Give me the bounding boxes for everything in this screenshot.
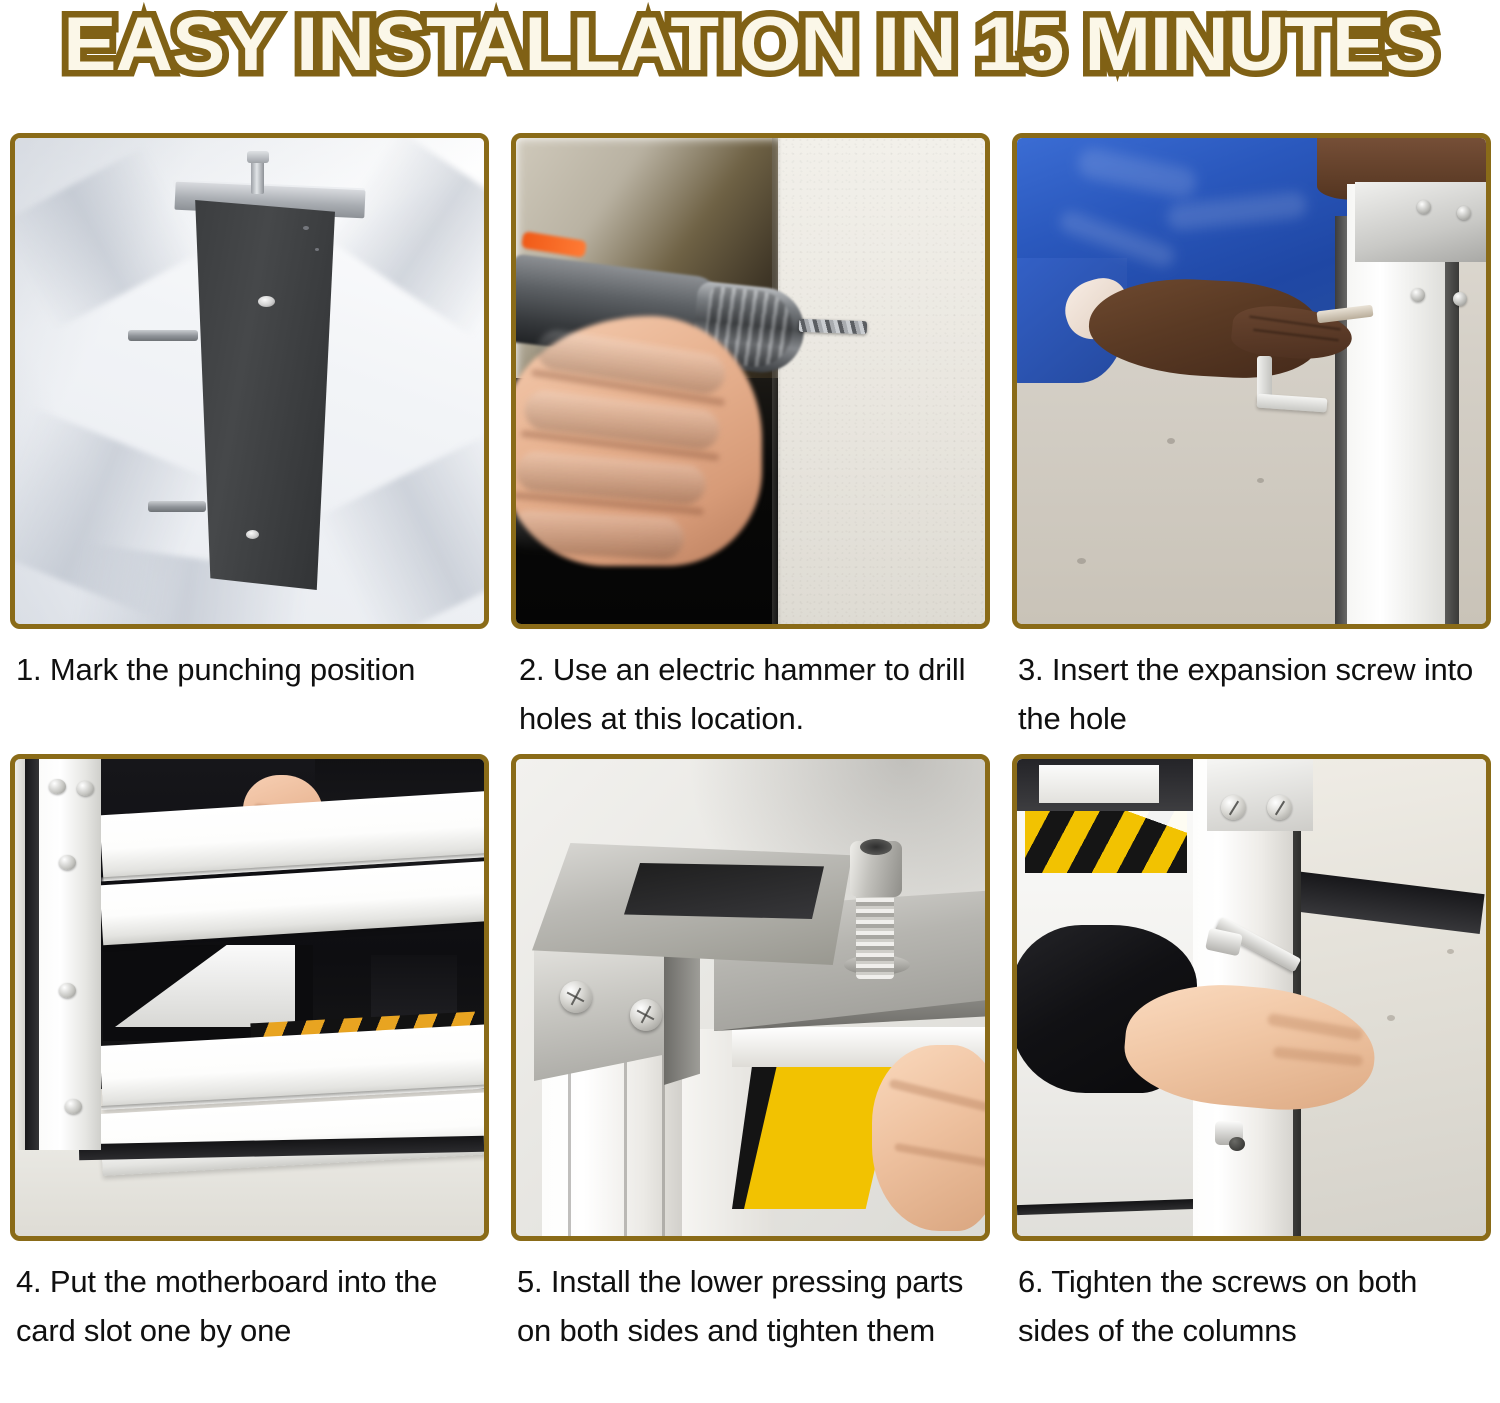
banner-title: EASY INSTALLATION IN 15 MINUTES: [64, 2, 1437, 88]
photo-lower-pressing-parts: [516, 759, 985, 1236]
step-photo-frame-3: [1012, 133, 1491, 629]
step-caption-4: 4. Put the motherboard into the card slo…: [10, 1257, 489, 1355]
step-caption-3: 3. Insert the expansion screw into the h…: [1012, 645, 1491, 743]
photo-drill-holes: [516, 138, 985, 624]
step-card-1: 1. Mark the punching position: [10, 133, 489, 743]
infographic-page: EASY INSTALLATION IN 15 MINUTES: [0, 0, 1500, 1403]
step-caption-6: 6. Tighten the screws on both sides of t…: [1012, 1257, 1491, 1355]
banner: EASY INSTALLATION IN 15 MINUTES: [0, 0, 1500, 110]
step-photo-frame-5: [511, 754, 990, 1241]
photo-insert-motherboard: [15, 759, 484, 1236]
step-photo-frame-6: [1012, 754, 1491, 1241]
step-caption-1: 1. Mark the punching position: [10, 645, 489, 694]
step-card-4: 4. Put the motherboard into the card slo…: [10, 754, 489, 1355]
steps-row-top: 1. Mark the punching position: [10, 133, 1492, 743]
steps-grid: 1. Mark the punching position: [10, 133, 1492, 1355]
step-card-6: 6. Tighten the screws on both sides of t…: [1012, 754, 1491, 1355]
step-caption-5: 5. Install the lower pressing parts on b…: [511, 1257, 990, 1355]
photo-tighten-column-screws: [1017, 759, 1486, 1236]
step-photo-frame-4: [10, 754, 489, 1241]
step-photo-frame-1: [10, 133, 489, 629]
photo-mark-punching-position: [15, 138, 484, 624]
step-card-3: 3. Insert the expansion screw into the h…: [1012, 133, 1491, 743]
step-card-2: 2. Use an electric hammer to drill holes…: [511, 133, 990, 743]
step-photo-frame-2: [511, 133, 990, 629]
step-caption-2: 2. Use an electric hammer to drill holes…: [511, 645, 990, 743]
step-card-5: 5. Install the lower pressing parts on b…: [511, 754, 990, 1355]
steps-row-bottom: 4. Put the motherboard into the card slo…: [10, 754, 1492, 1355]
photo-insert-expansion-screw: [1017, 138, 1486, 624]
